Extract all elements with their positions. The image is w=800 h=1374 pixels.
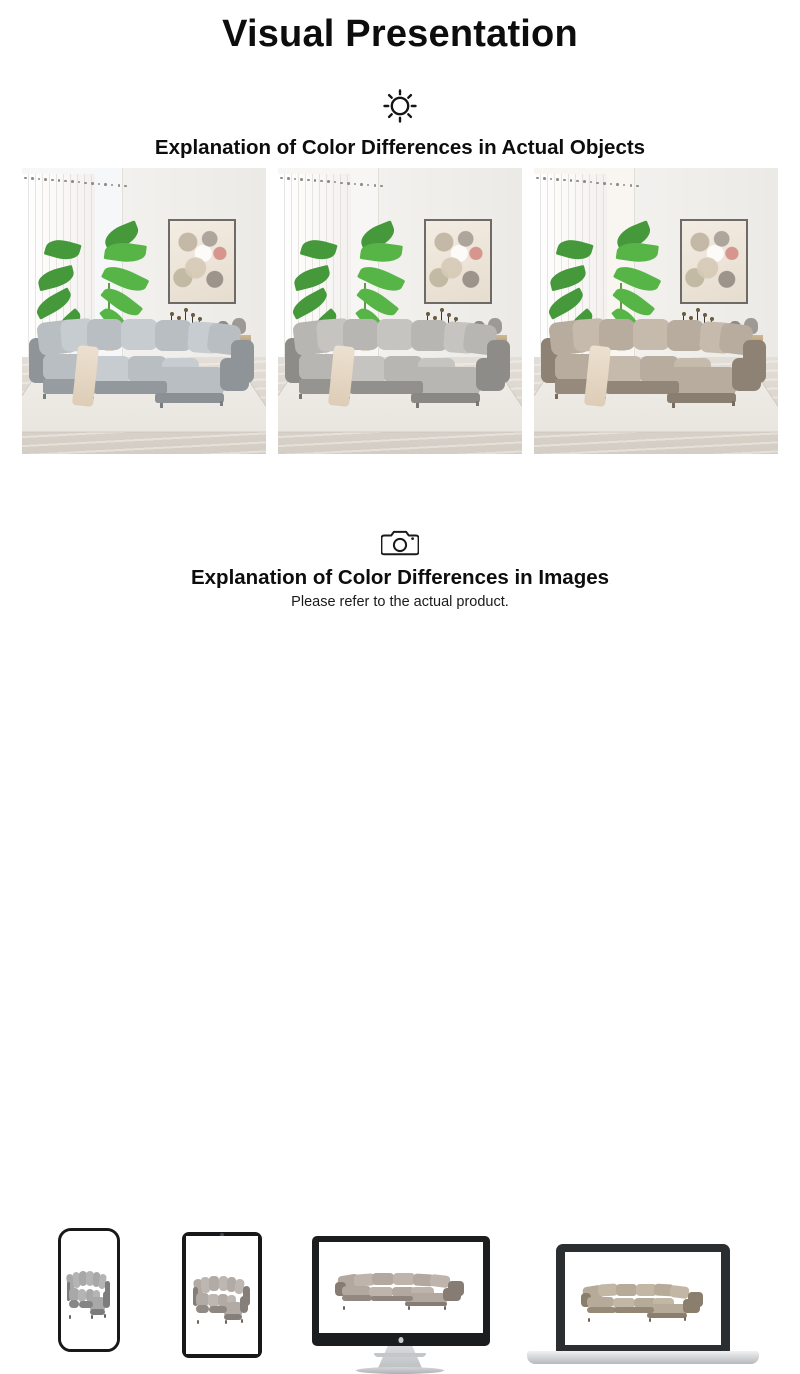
section-title-actual-objects: Explanation of Color Differences in Actu… (0, 136, 800, 160)
camera-icon (381, 527, 419, 559)
monitor-screen (319, 1242, 483, 1333)
phone-device[interactable] (58, 1228, 120, 1352)
visual-presentation-page: Visual Presentation Explanation of Color… (0, 0, 800, 800)
monitor-device[interactable] (312, 1236, 490, 1346)
page-title: Visual Presentation (0, 14, 800, 56)
phone-screen (61, 1231, 117, 1349)
monitor-stand-base (356, 1367, 444, 1374)
laptop-base (527, 1351, 759, 1364)
room-panel-warm-light[interactable]: Warm Light (534, 168, 778, 454)
room-panel-natural-light[interactable]: Natural Light (278, 168, 522, 454)
room-panels-row: Cool Light Natural Light Warm Light (22, 168, 778, 454)
room-panel-cool-light[interactable]: Cool Light (22, 168, 266, 454)
monitor-logo-icon (399, 1337, 404, 1343)
laptop-screen (565, 1252, 721, 1345)
devices-row (0, 612, 800, 772)
laptop-trackpad-notch (374, 1353, 426, 1357)
laptop-device[interactable] (556, 1244, 730, 1352)
room-scene (534, 168, 778, 454)
section-title-images: Explanation of Color Differences in Imag… (0, 566, 800, 590)
tablet-device[interactable] (182, 1232, 262, 1358)
section-subtitle-images: Please refer to the actual product. (0, 594, 800, 610)
room-scene (278, 168, 522, 454)
monitor-stand-neck (378, 1346, 422, 1368)
room-scene (22, 168, 266, 454)
sun-icon (378, 88, 422, 124)
tablet-screen (186, 1236, 258, 1354)
